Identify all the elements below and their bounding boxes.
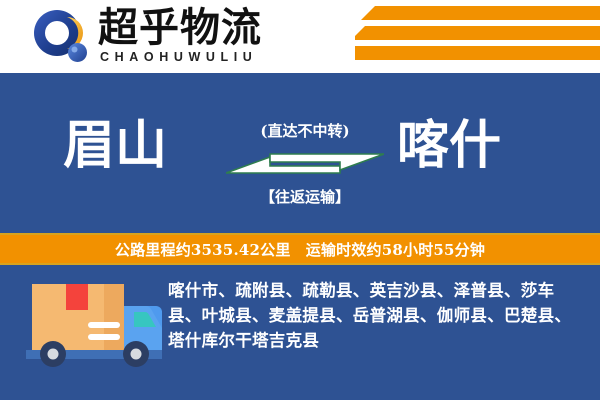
chaohu-q-logo-icon (33, 9, 91, 65)
destination-city: 喀什 (397, 118, 501, 174)
coverage-area-text: 喀什市、疏附县、疏勒县、英吉沙县、泽普县、莎车县、叶城县、麦盖提县、岳普湖县、伽… (168, 278, 580, 353)
origin-city: 眉山 (63, 118, 167, 174)
brand-name-en: CHAOHUWULIU (100, 50, 257, 64)
brand-name-cn: 超乎物流 (98, 6, 262, 50)
transport-mode-label: 【往返运输】 (235, 186, 375, 207)
bidirectional-arrow-icon (226, 146, 384, 182)
delivery-truck-icon (26, 278, 162, 370)
banner-header: 超乎物流 CHAOHUWULIU (0, 0, 600, 73)
distance-and-duration-text: 公路里程约3535.42公里 运输时效约58小时55分钟 (115, 239, 485, 260)
route-info-bar: 公路里程约3535.42公里 运输时效约58小时55分钟 (0, 233, 600, 265)
logistics-route-banner: 超乎物流 CHAOHUWULIU 眉山 喀什 (直达不中转) 【往返运输】 公路… (0, 0, 600, 400)
speed-stripes-icon (355, 6, 600, 68)
direct-route-note: (直达不中转) (240, 120, 370, 141)
